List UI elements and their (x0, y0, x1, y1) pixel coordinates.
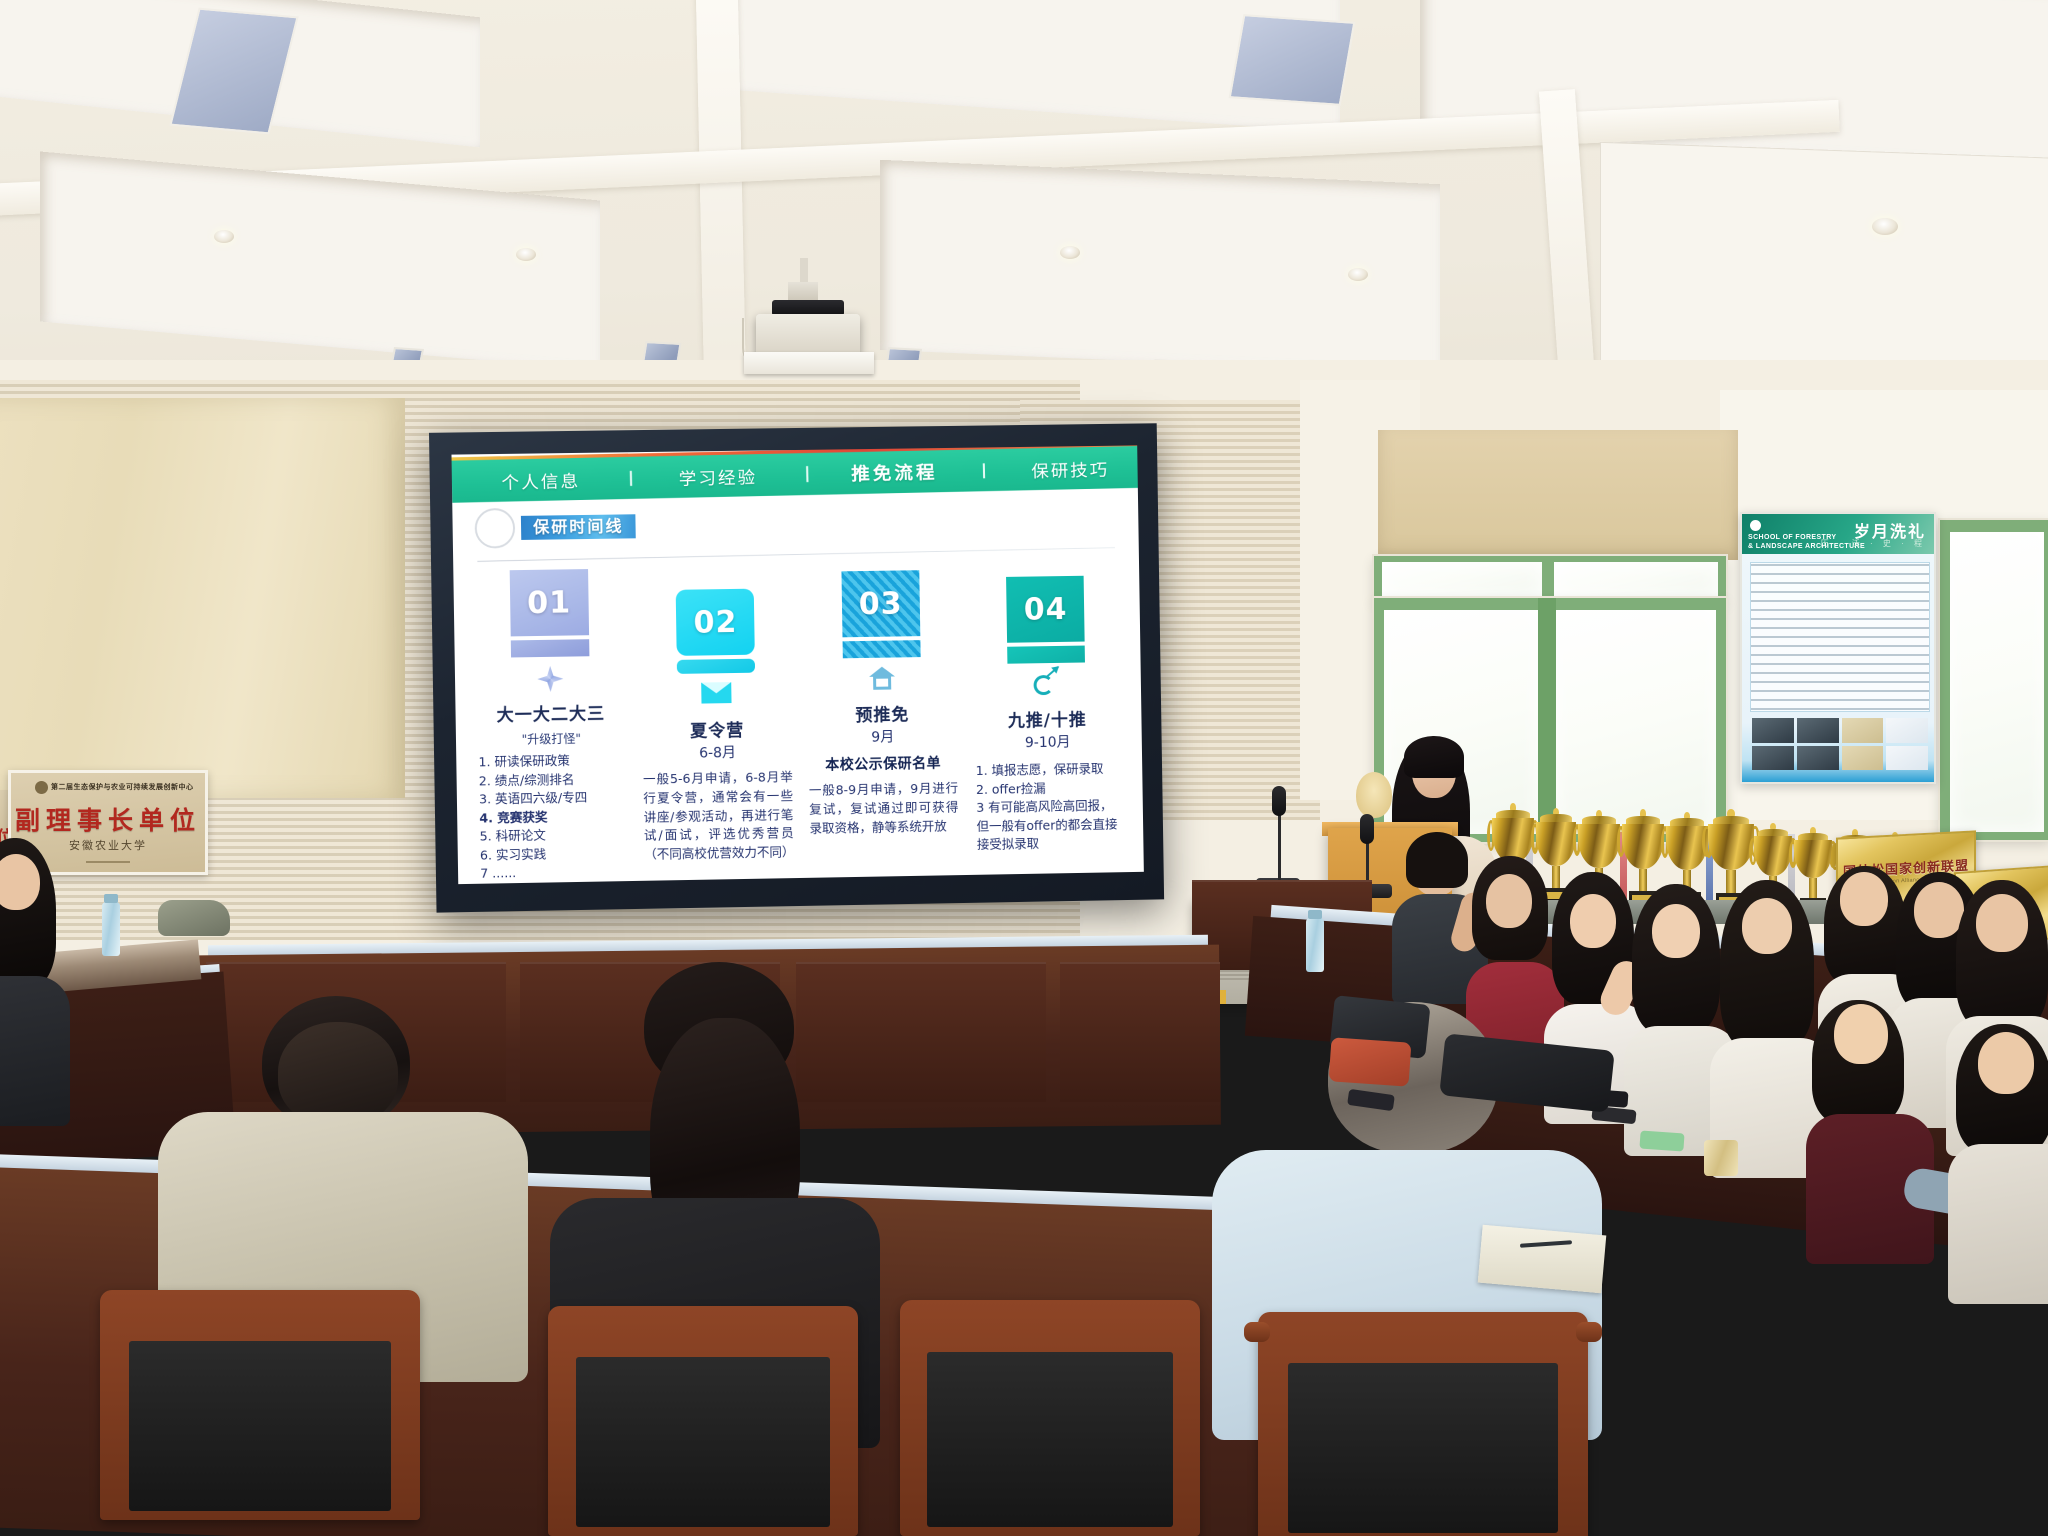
list-item: 3 有可能高风险高回报，但一般有offer的都会直接接受拟录取 (976, 796, 1122, 854)
downlight (1872, 218, 1898, 235)
poster-photo (1797, 746, 1839, 771)
phone (1639, 1130, 1684, 1151)
step-title: 九推/十推 (973, 705, 1122, 732)
slide-body: 保研时间线 01 (452, 493, 1144, 884)
step-number: 04 (1024, 591, 1068, 627)
step-number-bar (511, 639, 590, 657)
step-subtitle: 6-8月 (642, 741, 792, 764)
step-number-bar (1007, 646, 1085, 664)
list-item: 1. 填报志愿，保研录取 (976, 760, 1121, 781)
shoe (158, 900, 230, 936)
chair (900, 1300, 1200, 1536)
section-divider (477, 547, 1115, 562)
plaque-divider (86, 861, 130, 863)
step-title: 夏令营 (642, 715, 792, 742)
tab-label: 个人信息 (501, 471, 580, 493)
mail-icon (699, 682, 734, 713)
travel-mug (1704, 1140, 1738, 1176)
window-transom-glass (1382, 562, 1542, 596)
step-paragraph: 一般8-9月申请，9月进行复试，复试通过即可获得录取资格，静等系统开放 (809, 779, 959, 838)
projection-screen: 个人信息 学习经验 推免流程 保研技巧 (429, 423, 1164, 912)
school-logo-icon (1750, 520, 1761, 531)
water-bottle (1306, 918, 1324, 972)
window-glass (1950, 532, 2044, 832)
poster-text-block (1750, 562, 1930, 712)
step-quote: "升级打怪" (476, 729, 626, 749)
poster-photo (1752, 718, 1794, 743)
plaque-header-text: 第二届生态保护与农业可持续发展创新中心 (51, 782, 194, 792)
decorative-circle-icon (474, 508, 515, 549)
step-number-bar (842, 640, 920, 658)
plaque-sub-text: 安徽农业大学 (11, 837, 205, 853)
projector-info-card (744, 352, 874, 374)
step-number: 03 (859, 586, 903, 622)
plaque-seal-icon (35, 781, 48, 794)
nav-divider (982, 463, 984, 478)
bottle-cap (104, 894, 118, 903)
nav-divider (806, 466, 808, 482)
poster-document (1886, 746, 1928, 771)
ceiling-recess-panel (880, 160, 1440, 374)
downlight (1060, 246, 1080, 259)
tab-recommendation-process[interactable]: 推免流程 (806, 457, 983, 487)
table-modesty-panel (1060, 962, 1220, 1102)
downlight (1348, 268, 1368, 281)
step-number-block: 04 (1006, 576, 1085, 664)
timeline-step-4: 04 九推/十推 9-10月 1. 填报志愿，保研 (965, 561, 1130, 874)
list-item: 3. 英语四六级/专四 (479, 788, 625, 809)
mic-stem (1278, 808, 1281, 880)
chair (100, 1290, 420, 1520)
tab-label: 保研技巧 (1031, 460, 1109, 482)
step-title: 预推免 (808, 699, 958, 726)
step-number-block: 01 (509, 569, 589, 657)
screen-bezel: 个人信息 学习经验 推免流程 保研技巧 (429, 423, 1164, 912)
step-subtitle: 9月 (808, 725, 957, 747)
poster-document (1842, 746, 1884, 771)
step-heading: 本校公示保研名单 (808, 752, 957, 774)
compass-icon (533, 666, 568, 697)
step-number-block: 03 (841, 570, 920, 658)
list-item: 2. 绩点/综测排名 (479, 769, 625, 790)
step-number-tile: 03 (841, 570, 920, 637)
podium-crest (1356, 772, 1392, 818)
poster-document (1886, 718, 1928, 743)
step-number-block: 02 (676, 589, 755, 674)
nav-divider (629, 470, 631, 485)
target-icon (1030, 672, 1064, 702)
ceiling-vent (1229, 14, 1356, 106)
tab-exam-prep-tips[interactable]: 保研技巧 (982, 454, 1144, 483)
step-title: 大一大二大三 (476, 699, 627, 726)
list-item: 7 ...... (480, 862, 626, 883)
curtain-valance-right (1378, 430, 1738, 560)
table-modesty-panel (796, 962, 1046, 1102)
window-transom-glass (1554, 562, 1718, 596)
poster-subtitle: 历 · 沃 · 史 · 程 (1821, 538, 1926, 549)
bag (1329, 1037, 1412, 1086)
poster-photo (1797, 718, 1839, 743)
downlight (516, 248, 536, 261)
timeline-step-1: 01 大一大二大三 "升级打怪" 1. 研读保研政 (467, 568, 634, 883)
step-number-tile: 04 (1006, 576, 1085, 643)
tab-label: 学习经验 (679, 468, 758, 490)
conference-room-photo: 位 第二届生态保护与农业可持续发展创新中心 副理事长单位 安徽农业大学 SCHO… (0, 0, 2048, 1536)
step-number: 01 (527, 585, 572, 621)
step-number: 02 (693, 604, 737, 640)
hair (278, 1022, 398, 1126)
step-number-tile: 02 (676, 589, 755, 656)
step-subtitle: 9-10月 (973, 731, 1122, 753)
poster-header: SCHOOL OF FORESTRY & LANDSCAPE ARCHITECT… (1742, 514, 1934, 554)
tab-personal-info[interactable]: 个人信息 (452, 465, 630, 494)
ceiling-beam (695, 0, 746, 410)
downlight (214, 230, 234, 243)
screen-display: 个人信息 学习经验 推免流程 保研技巧 (451, 445, 1143, 884)
list-item: 1. 研读保研政策 (478, 751, 624, 772)
home-icon (865, 666, 899, 697)
step-list: 1. 填报志愿，保研录取 2. offer捡漏 3 有可能高风险高回报，但一般有… (974, 760, 1124, 855)
timeline-step-2: 02 夏令营 6-8月 一般5-6月申请，6-8月举行夏令营，通常会有一些讲座/… (634, 566, 801, 880)
presentation-slide: 个人信息 学习经验 推免流程 保研技巧 (451, 445, 1143, 884)
timeline-step-3: 03 预推免 9月 本校公示保研名单 一般8-9月申请， (799, 564, 965, 878)
list-item: 2. offer捡漏 (976, 778, 1121, 799)
water-bottle (102, 902, 120, 956)
tab-label: 推免流程 (851, 462, 938, 485)
curtain-left (0, 398, 405, 798)
notebook (1478, 1225, 1607, 1294)
step-number-tile: 01 (509, 569, 588, 636)
plaque-main-text: 副理事长单位 (11, 801, 205, 837)
department-poster: SCHOOL OF FORESTRY & LANDSCAPE ARCHITECT… (1740, 512, 1936, 784)
poster-document (1842, 718, 1884, 743)
mic-head (1360, 814, 1374, 844)
poster-photo-grid (1752, 718, 1928, 770)
section-title-badge: 保研时间线 (521, 514, 636, 540)
step-number-bar (677, 659, 755, 674)
bottle-cap (1308, 910, 1322, 919)
timeline-columns: 01 大一大二大三 "升级打怪" 1. 研读保研政 (467, 561, 1129, 878)
step-list: 1. 研读保研政策 2. 绩点/综测排名 3. 英语四六级/专四 4. 竞赛获奖… (476, 751, 628, 883)
tab-study-experience[interactable]: 学习经验 (629, 462, 806, 491)
poster-photo (1752, 746, 1794, 771)
step-paragraph: 一般5-6月申请，6-8月举行夏令营，通常会有一些讲座/参观活动，再进行笔试/面… (643, 768, 794, 864)
chair (548, 1306, 858, 1536)
chair (1258, 1312, 1588, 1536)
mic-head (1272, 786, 1286, 816)
